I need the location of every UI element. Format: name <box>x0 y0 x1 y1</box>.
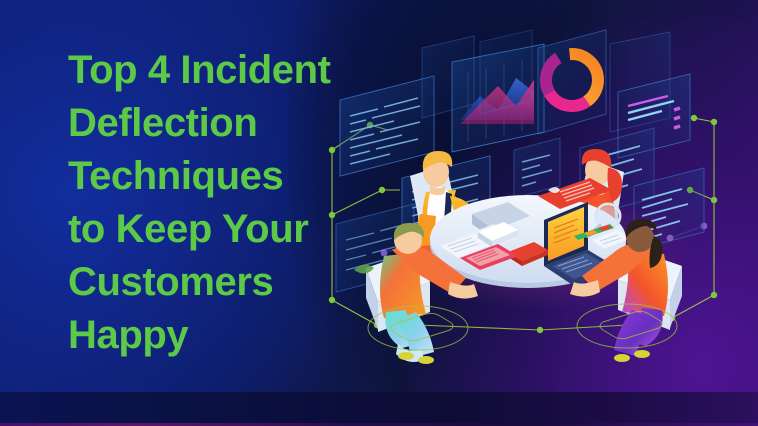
panel-donut-chart <box>536 30 608 134</box>
hero-banner: Top 4 Incident Deflection Techniques to … <box>0 0 758 426</box>
page-title: Top 4 Incident Deflection Techniques to … <box>68 44 368 362</box>
headline-line-4: to Keep Your <box>68 203 368 256</box>
headline-line-6: Happy <box>68 309 368 362</box>
panel-blank-upper-left <box>422 36 474 118</box>
illustration-isometric-team-dashboard <box>322 0 758 426</box>
headline-line-3: Techniques <box>68 150 368 203</box>
headline-line-2: Deflection <box>68 97 368 150</box>
headline-line-5: Customers <box>68 256 368 309</box>
headline-line-1: Top 4 Incident <box>68 44 368 97</box>
panel-blank-center <box>480 30 532 114</box>
